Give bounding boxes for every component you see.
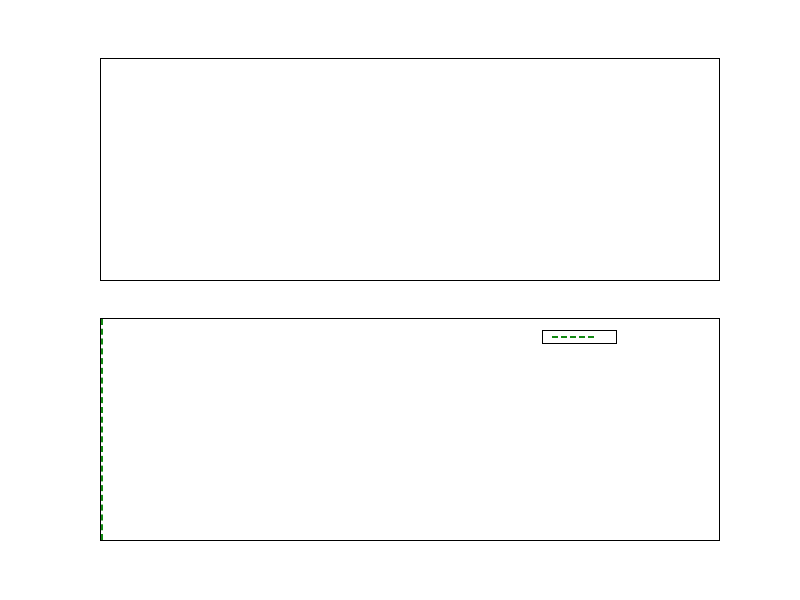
cumulative-plot-area (101, 319, 719, 540)
top-histogram-axes (100, 58, 720, 281)
mag-limit-line-icon (552, 336, 594, 338)
legend-box[interactable] (542, 330, 617, 344)
figure-canvas (0, 0, 800, 600)
top-histogram-plot-area (101, 59, 719, 280)
cumulative-axes (100, 318, 720, 541)
cumulative-curve (101, 319, 719, 540)
mag-limit-vline (101, 319, 103, 540)
